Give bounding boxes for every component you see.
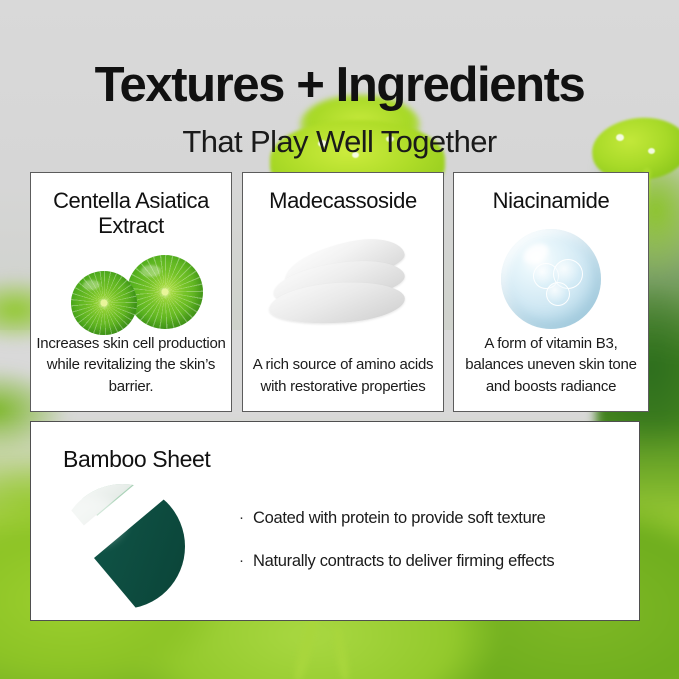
ingredient-card-centella: Centella Asiatica Extract Increases skin… xyxy=(30,172,232,412)
card-title: Madecassoside xyxy=(243,189,443,214)
list-item-label: Naturally contracts to deliver firming e… xyxy=(253,551,554,572)
bamboo-sheet-swatch-icon xyxy=(60,484,185,609)
centella-leaf-small xyxy=(71,271,137,335)
leaf-core xyxy=(101,300,108,307)
leaf-core xyxy=(162,289,169,296)
leaf-sheen xyxy=(141,265,161,277)
page-title: Textures + Ingredients xyxy=(0,61,679,110)
list-item: · Naturally contracts to deliver firming… xyxy=(239,551,554,572)
cream-swatch-icon xyxy=(243,235,443,331)
bamboo-highlight xyxy=(66,498,124,544)
card-description: A rich source of amino acids with restor… xyxy=(243,354,443,397)
card-title: Niacinamide xyxy=(454,189,648,214)
ingredient-card-niacinamide: Niacinamide A form of vitamin B3, balanc… xyxy=(453,172,649,412)
bamboo-sheet-panel: Bamboo Sheet · Coated with protein to pr… xyxy=(30,421,640,621)
ingredient-card-madecassoside: Madecassoside A rich source of amino aci… xyxy=(242,172,444,412)
page-subtitle: That Play Well Together xyxy=(0,126,679,157)
list-item-label: Coated with protein to provide soft text… xyxy=(253,508,546,529)
card-description: Increases skin cell production while rev… xyxy=(31,333,231,397)
infographic-canvas: Textures + Ingredients That Play Well To… xyxy=(0,0,679,679)
leaf-sheen xyxy=(83,280,100,290)
bullet-marker-icon: · xyxy=(239,508,253,528)
droplet-sphere xyxy=(501,229,601,329)
blue-droplet-icon xyxy=(454,231,648,327)
bullet-marker-icon: · xyxy=(239,551,253,571)
bamboo-benefits-list: · Coated with protein to provide soft te… xyxy=(239,508,554,595)
list-item: · Coated with protein to provide soft te… xyxy=(239,508,554,529)
card-title: Centella Asiatica Extract xyxy=(31,189,231,238)
inner-bubble xyxy=(546,282,570,306)
card-description: A form of vitamin B3, balances uneven sk… xyxy=(454,333,648,397)
panel-title: Bamboo Sheet xyxy=(63,446,210,473)
centella-leaf-large xyxy=(127,255,203,329)
